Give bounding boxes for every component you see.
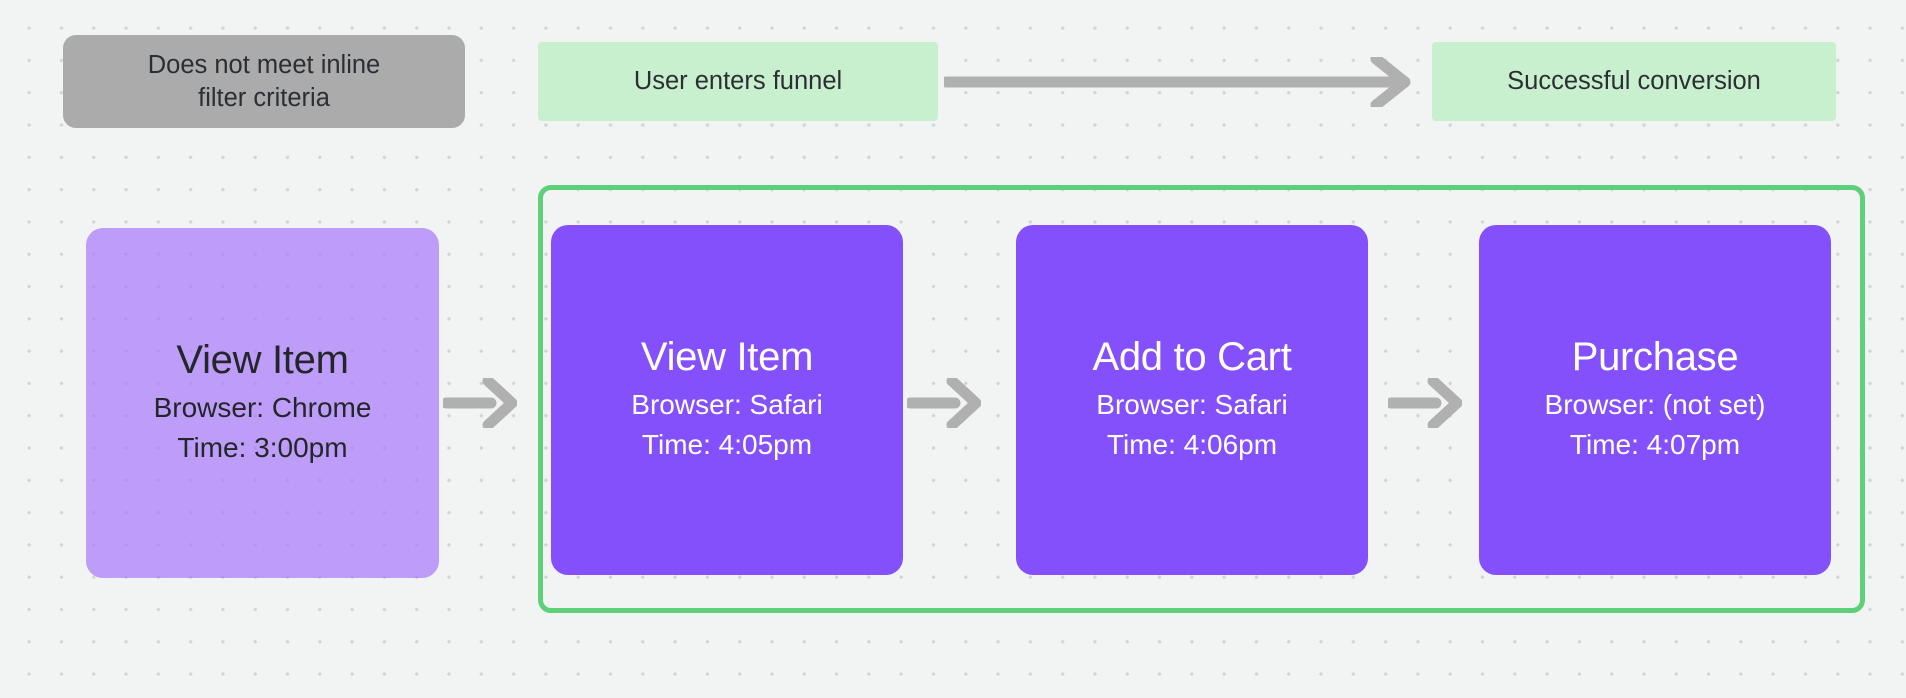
legend-successful-conversion-label: Successful conversion xyxy=(1507,65,1761,98)
legend-successful-conversion-box: Successful conversion xyxy=(1432,42,1836,121)
flow-arrow-icon-0 xyxy=(443,378,517,428)
event-node-browser: Browser: Safari xyxy=(631,385,822,425)
legend-enters-funnel-box: User enters funnel xyxy=(538,42,938,121)
flow-arrow-icon-2 xyxy=(1388,378,1462,428)
event-node-title: Purchase xyxy=(1572,335,1739,380)
event-node-step-2-add-to-cart[interactable]: Add to Cart Browser: Safari Time: 4:06pm xyxy=(1016,225,1368,575)
event-node-time: Time: 4:06pm xyxy=(1107,425,1277,465)
legend-enters-funnel-label: User enters funnel xyxy=(634,65,842,98)
diagram-canvas: Does not meet inline filter criteria Use… xyxy=(0,0,1906,698)
event-node-time: Time: 4:05pm xyxy=(642,425,812,465)
event-node-title: View Item xyxy=(176,338,348,383)
event-node-excluded-view-item[interactable]: View Item Browser: Chrome Time: 3:00pm xyxy=(86,228,439,578)
event-node-title: View Item xyxy=(641,335,813,380)
event-node-time: Time: 3:00pm xyxy=(177,428,347,468)
event-node-title: Add to Cart xyxy=(1092,335,1291,380)
event-node-time: Time: 4:07pm xyxy=(1570,425,1740,465)
flow-arrow-icon-1 xyxy=(907,378,981,428)
legend-excluded-line2: filter criteria xyxy=(198,84,330,112)
event-node-browser: Browser: (not set) xyxy=(1545,385,1766,425)
event-node-browser: Browser: Safari xyxy=(1096,385,1287,425)
event-node-step-3-purchase[interactable]: Purchase Browser: (not set) Time: 4:07pm xyxy=(1479,225,1831,575)
legend-excluded-box: Does not meet inline filter criteria xyxy=(63,35,465,128)
legend-flow-arrow-icon xyxy=(944,57,1424,107)
event-node-step-1-view-item[interactable]: View Item Browser: Safari Time: 4:05pm xyxy=(551,225,903,575)
event-node-browser: Browser: Chrome xyxy=(154,388,372,428)
legend-excluded-text: Does not meet inline filter criteria xyxy=(148,49,380,114)
legend-excluded-line1: Does not meet inline xyxy=(148,51,380,79)
